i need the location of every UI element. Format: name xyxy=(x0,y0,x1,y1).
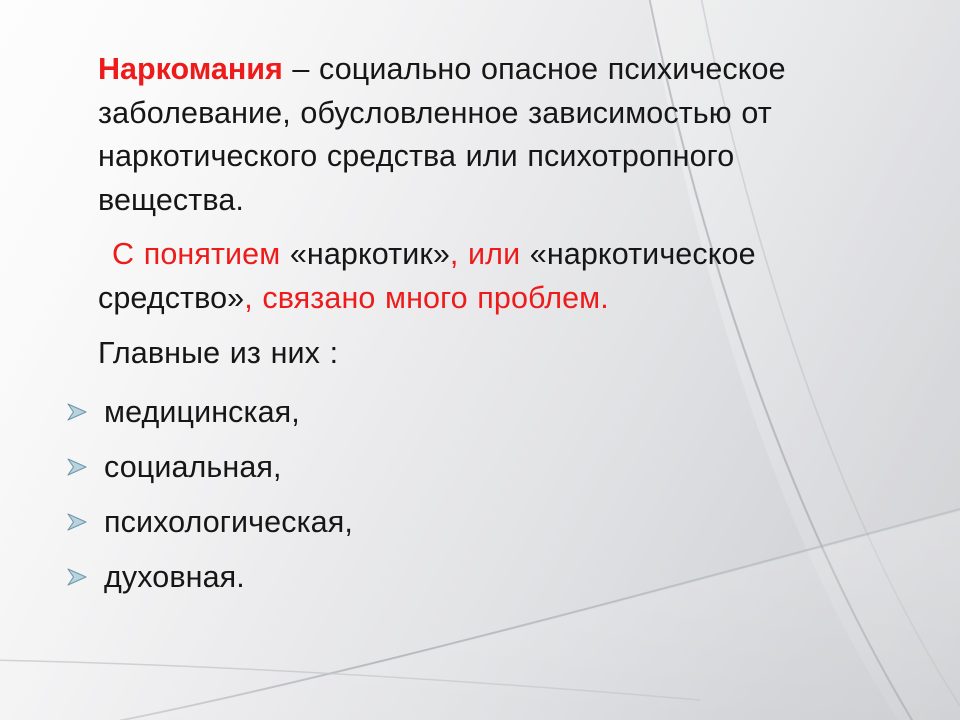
list-item: социальная, xyxy=(58,447,902,487)
second-paragraph-seg-1: С понятием xyxy=(112,237,290,271)
arrow-bullet-icon xyxy=(64,564,90,590)
list-item-label: психологическая, xyxy=(104,502,353,542)
lead-paragraph: Наркомания – социально опасное психическ… xyxy=(98,48,864,222)
second-paragraph-seg-5: , связано много проблем. xyxy=(244,281,609,315)
arrow-bullet-icon xyxy=(64,454,90,480)
list-item-label: духовная. xyxy=(104,557,245,597)
second-paragraph-seg-3: , или xyxy=(450,237,530,271)
list-item-label: медицинская, xyxy=(104,392,300,432)
second-paragraph-seg-2: «наркотик» xyxy=(290,237,450,271)
second-paragraph: С понятием «наркотик», или «наркотическо… xyxy=(98,233,864,320)
list-item: медицинская, xyxy=(58,392,902,432)
term-title: Наркомания xyxy=(98,52,283,86)
third-paragraph: Главные из них : xyxy=(98,332,902,376)
list-item: духовная. xyxy=(58,557,902,597)
arrow-bullet-icon xyxy=(64,399,90,425)
list-item-label: социальная, xyxy=(104,447,282,487)
problem-type-list: медицинская, социальная, психологическая… xyxy=(58,392,902,597)
list-item: психологическая, xyxy=(58,502,902,542)
arrow-bullet-icon xyxy=(64,509,90,535)
slide-canvas: Наркомания – социально опасное психическ… xyxy=(0,0,960,720)
slide-content: Наркомания – социально опасное психическ… xyxy=(0,0,960,720)
